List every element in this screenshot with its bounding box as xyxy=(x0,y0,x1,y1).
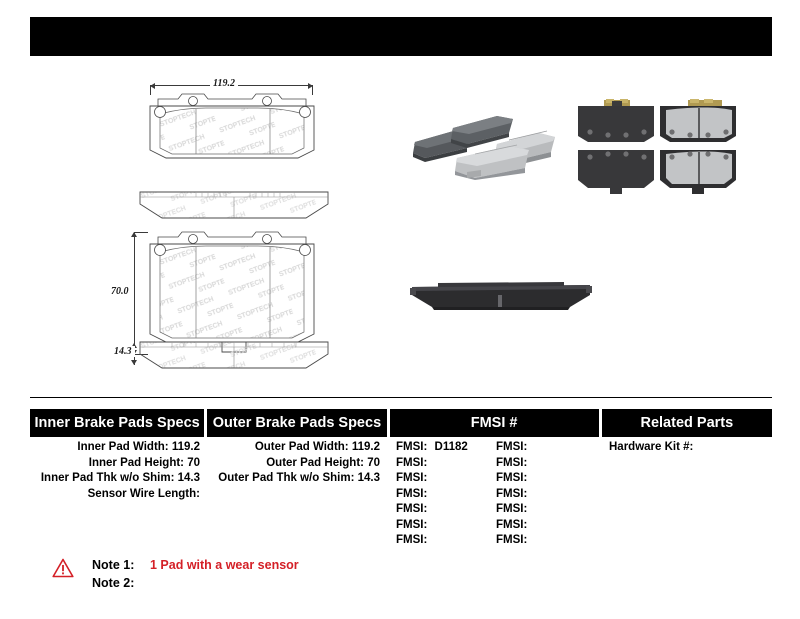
fmsi-row: FMSI: FMSI: xyxy=(396,533,599,549)
fmsi-value xyxy=(527,488,531,500)
dim-label-thickness: 14.3 xyxy=(111,346,135,357)
fmsi-cell-left: FMSI: xyxy=(396,518,496,534)
spec-row-inner-width: Inner Pad Width: 119.2 xyxy=(30,440,208,456)
fmsi-label: FMSI: xyxy=(496,441,527,453)
inner-width-value: 119.2 xyxy=(172,441,200,453)
fmsi-value: D1182 xyxy=(431,441,468,453)
note-1-value: 1 Pad with a wear sensor xyxy=(146,556,299,574)
outer-height-value: 70 xyxy=(367,457,380,469)
fmsi-cell-left: FMSI: D1182 xyxy=(396,440,496,456)
fmsi-cell-right: FMSI: xyxy=(496,471,596,487)
spec-row-sensor-wire-length: Sensor Wire Length: xyxy=(30,487,208,503)
outer-thickness-label: Outer Pad Thk w/o Shim: xyxy=(218,472,354,484)
fmsi-row: FMSI: FMSI: xyxy=(396,487,599,503)
fmsi-value xyxy=(527,519,531,531)
fmsi-label: FMSI: xyxy=(496,534,527,546)
fmsi-label: FMSI: xyxy=(396,457,427,469)
dim-line-height-vertical xyxy=(134,232,135,355)
fmsi-label: FMSI: xyxy=(396,488,427,500)
related-parts-column: Hardware Kit #: xyxy=(599,440,772,549)
fmsi-label: FMSI: xyxy=(496,503,527,515)
notes-section: Note 1: 1 Pad with a wear sensor Note 2: xyxy=(52,556,299,592)
fmsi-label: FMSI: xyxy=(496,519,527,531)
spec-row-outer-thickness: Outer Pad Thk w/o Shim: 14.3 xyxy=(208,471,388,487)
table-header-row: Inner Brake Pads Specs Outer Brake Pads … xyxy=(30,409,772,437)
fmsi-value xyxy=(527,503,531,515)
note-2-value xyxy=(146,574,150,592)
note-1-label: Note 1: xyxy=(92,556,146,574)
spec-row-outer-width: Outer Pad Width: 119.2 xyxy=(208,440,388,456)
fmsi-row: FMSI: FMSI: xyxy=(396,518,599,534)
pad-side-profile-bottom-drawing xyxy=(138,338,330,372)
inner-thickness-label: Inner Pad Thk w/o Shim: xyxy=(41,472,175,484)
inner-thickness-value: 14.3 xyxy=(178,472,200,484)
column-header-related-parts: Related Parts xyxy=(602,409,772,437)
fmsi-cell-left: FMSI: xyxy=(396,456,496,472)
fmsi-cell-left: FMSI: xyxy=(396,487,496,503)
column-header-inner-specs: Inner Brake Pads Specs xyxy=(30,409,204,437)
fmsi-row: FMSI: FMSI: xyxy=(396,502,599,518)
document-header-bar: 309.11820 Brake Pad xyxy=(30,17,772,56)
product-type-label: Brake Pad xyxy=(683,28,758,46)
outer-specs-column: Outer Pad Width: 119.2 Outer Pad Height:… xyxy=(208,440,388,549)
part-number: 309.11820 xyxy=(46,28,120,46)
inner-height-value: 70 xyxy=(187,457,200,469)
drawing-and-photo-area: STOPTECH STOPTECH STOPTECH STOPTECH 119.… xyxy=(0,60,800,390)
inner-specs-column: Inner Pad Width: 119.2 Inner Pad Height:… xyxy=(30,440,208,549)
fmsi-grid: FMSI: D1182 FMSI: FMSI: FMSI: xyxy=(388,440,599,549)
fmsi-row: FMSI: FMSI: xyxy=(396,456,599,472)
notes-text-block: Note 1: 1 Pad with a wear sensor Note 2: xyxy=(92,556,299,592)
spec-row-inner-thickness: Inner Pad Thk w/o Shim: 14.3 xyxy=(30,471,208,487)
fmsi-cell-right: FMSI: xyxy=(496,518,596,534)
fmsi-label: FMSI: xyxy=(496,457,527,469)
fmsi-value xyxy=(527,534,531,546)
fmsi-label: FMSI: xyxy=(396,503,427,515)
fmsi-cell-left: FMSI: xyxy=(396,533,496,549)
fmsi-value xyxy=(427,534,431,546)
table-top-divider xyxy=(30,397,772,398)
fmsi-row: FMSI: FMSI: xyxy=(396,471,599,487)
fmsi-cell-right: FMSI: xyxy=(496,456,596,472)
brake-pad-edge-profile-photo xyxy=(408,275,594,315)
fmsi-label: FMSI: xyxy=(396,534,427,546)
note-2-label: Note 2: xyxy=(92,574,146,592)
fmsi-cell-right: FMSI: xyxy=(496,502,596,518)
sensor-wire-length-label: Sensor Wire Length: xyxy=(88,488,200,500)
dim-arrow-thickness-bottom xyxy=(131,360,137,365)
outer-thickness-value: 14.3 xyxy=(358,472,380,484)
fmsi-value xyxy=(527,457,531,469)
fmsi-cell-right: FMSI: xyxy=(496,440,596,456)
brake-pad-set-angled-photo xyxy=(405,100,565,180)
brake-pad-set-topdown-photo xyxy=(570,98,742,198)
fmsi-value xyxy=(427,503,431,515)
fmsi-label: FMSI: xyxy=(496,472,527,484)
inner-width-label: Inner Pad Width: xyxy=(77,441,168,453)
spec-row-outer-height: Outer Pad Height: 70 xyxy=(208,456,388,472)
warning-triangle-icon xyxy=(52,558,74,578)
dim-label-width: 119.2 xyxy=(210,78,238,89)
fmsi-label: FMSI: xyxy=(496,488,527,500)
fmsi-value xyxy=(427,457,431,469)
note-row-1: Note 1: 1 Pad with a wear sensor xyxy=(92,556,299,574)
fmsi-value xyxy=(427,519,431,531)
outer-width-label: Outer Pad Width: xyxy=(255,441,349,453)
fmsi-label: FMSI: xyxy=(396,472,427,484)
hardware-kit-label: Hardware Kit #: xyxy=(609,441,693,453)
inner-height-label: Inner Pad Height: xyxy=(89,457,184,469)
dim-label-height: 70.0 xyxy=(108,286,132,297)
pad-plan-view-top-drawing xyxy=(148,92,318,160)
fmsi-label: FMSI: xyxy=(396,519,427,531)
outer-width-value: 119.2 xyxy=(352,441,380,453)
fmsi-value xyxy=(527,441,531,453)
fmsi-value xyxy=(527,472,531,484)
fmsi-value xyxy=(427,488,431,500)
pad-side-profile-top-drawing xyxy=(138,188,330,222)
related-parts-row-hardware-kit: Hardware Kit #: xyxy=(599,440,772,456)
fmsi-row: FMSI: D1182 FMSI: xyxy=(396,440,599,456)
column-header-outer-specs: Outer Brake Pads Specs xyxy=(207,409,386,437)
fmsi-label: FMSI: xyxy=(396,441,427,453)
fmsi-cell-right: FMSI: xyxy=(496,533,596,549)
note-row-2: Note 2: xyxy=(92,574,299,592)
dim-ext-height-top xyxy=(134,232,148,233)
table-body: Inner Pad Width: 119.2 Inner Pad Height:… xyxy=(30,440,772,549)
column-header-fmsi: FMSI # xyxy=(390,409,599,437)
spec-row-inner-height: Inner Pad Height: 70 xyxy=(30,456,208,472)
fmsi-cell-left: FMSI: xyxy=(396,502,496,518)
fmsi-cell-right: FMSI: xyxy=(496,487,596,503)
fmsi-value xyxy=(427,472,431,484)
outer-height-label: Outer Pad Height: xyxy=(266,457,364,469)
fmsi-column: FMSI: D1182 FMSI: FMSI: FMSI: xyxy=(388,440,599,549)
fmsi-cell-left: FMSI: xyxy=(396,471,496,487)
